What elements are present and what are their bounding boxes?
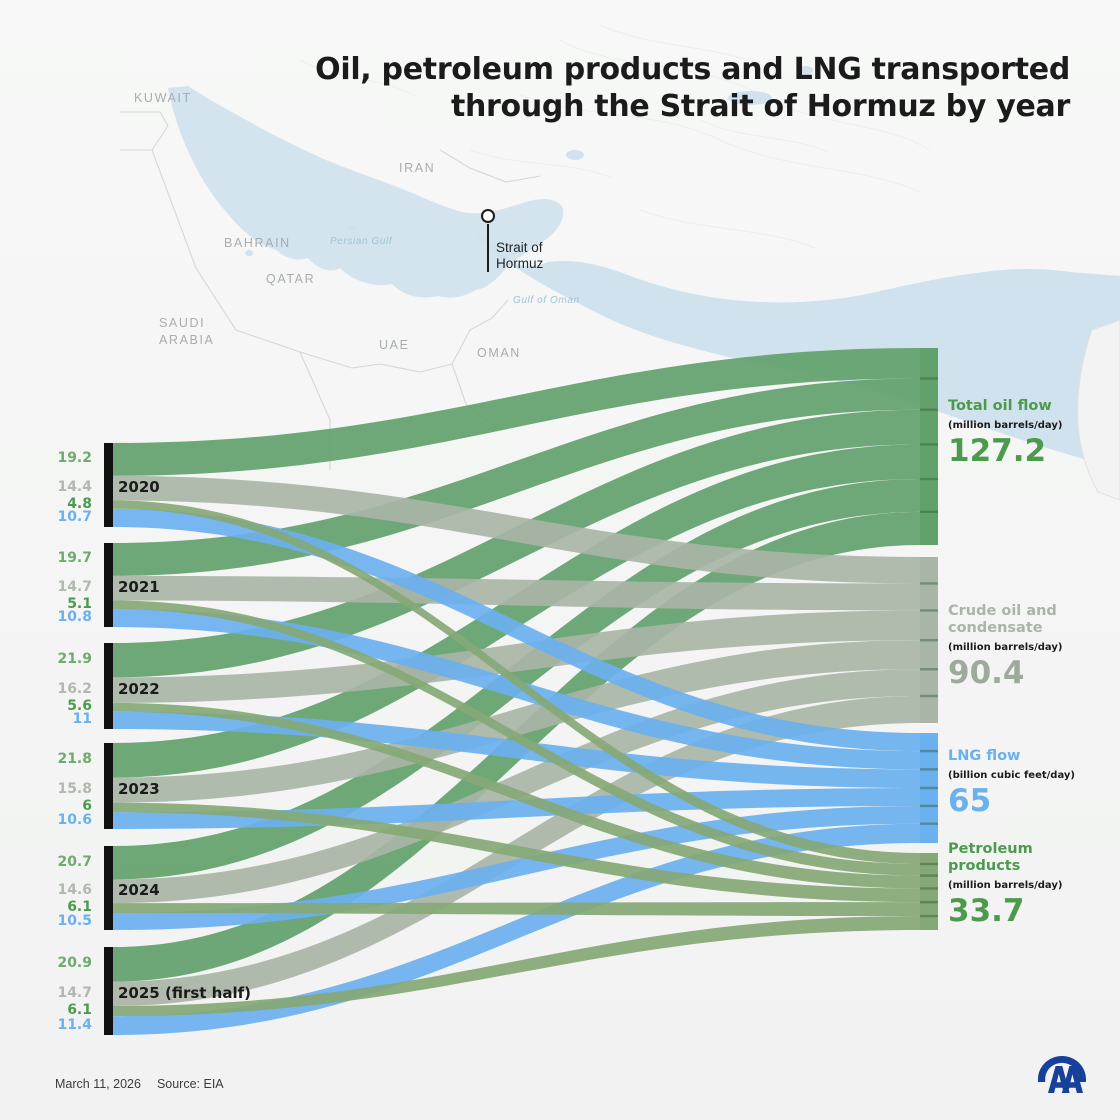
- year-value-2025-first-half--total-oil: 20.9: [0, 955, 92, 971]
- category-lng-flow: LNG flow (billion cubic feet/day) 65: [948, 748, 1108, 817]
- category-name-lng-flow: LNG flow: [948, 748, 1108, 765]
- year-label-2022: 2022: [118, 680, 160, 698]
- year-value-2020-lng: 10.7: [0, 509, 92, 525]
- year-value-2023-total-oil: 21.8: [0, 751, 92, 767]
- year-value-2023-lng: 10.6: [0, 812, 92, 828]
- year-value-2025-first-half--lng: 11.4: [0, 1017, 92, 1033]
- year-value-2022-total-oil: 21.9: [0, 651, 92, 667]
- category-total-oil-flow: Total oil flow (million barrels/day) 127…: [948, 398, 1108, 467]
- category-unit-crude-oil-and-condensate: (million barrels/day): [948, 642, 1108, 653]
- footer-source: Source: EIA: [157, 1077, 224, 1091]
- category-value-total-oil-flow: 127.2: [948, 436, 1108, 467]
- year-value-2021-crude: 14.7: [0, 579, 92, 595]
- year-label-2025-first-half-: 2025 (first half): [118, 984, 251, 1002]
- year-value-2022-lng: 11: [0, 711, 92, 727]
- category-value-petroleum-products: 33.7: [948, 896, 1108, 927]
- anadolu-agency-logo: [1033, 1053, 1091, 1099]
- footer-date: March 11, 2026: [55, 1077, 141, 1091]
- category-unit-lng-flow: (billion cubic feet/day): [948, 770, 1108, 781]
- year-label-2024: 2024: [118, 881, 160, 899]
- year-value-2021-total-oil: 19.7: [0, 550, 92, 566]
- year-value-2022-crude: 16.2: [0, 681, 92, 697]
- year-value-2020-total-oil: 19.2: [0, 450, 92, 466]
- category-unit-total-oil-flow: (million barrels/day): [948, 420, 1108, 431]
- year-value-2020-crude: 14.4: [0, 479, 92, 495]
- category-value-crude-oil-and-condensate: 90.4: [948, 658, 1108, 689]
- category-name-crude-oil-and-condensate: Crude oil and condensate: [948, 603, 1108, 637]
- year-label-2021: 2021: [118, 578, 160, 596]
- year-label-layer: 19.214.44.810.7202019.714.75.110.8202121…: [0, 0, 1120, 1120]
- year-label-2023: 2023: [118, 780, 160, 798]
- year-value-2024-crude: 14.6: [0, 882, 92, 898]
- category-crude-oil-and-condensate: Crude oil and condensate (million barrel…: [948, 603, 1108, 689]
- year-value-2024-lng: 10.5: [0, 913, 92, 929]
- category-unit-petroleum-products: (million barrels/day): [948, 880, 1108, 891]
- year-label-2020: 2020: [118, 478, 160, 496]
- footer: March 11, 2026Source: EIA: [55, 1077, 224, 1091]
- year-value-2021-lng: 10.8: [0, 609, 92, 625]
- category-petroleum-products: Petroleum products (million barrels/day)…: [948, 841, 1108, 927]
- infographic-canvas: KUWAIT IRAN BAHRAIN QATAR SAUDI ARABIA U…: [0, 0, 1120, 1120]
- category-name-total-oil-flow: Total oil flow: [948, 398, 1108, 415]
- category-value-lng-flow: 65: [948, 786, 1108, 817]
- year-value-2024-total-oil: 20.7: [0, 854, 92, 870]
- year-value-2023-crude: 15.8: [0, 781, 92, 797]
- year-value-2025-first-half--crude: 14.7: [0, 985, 92, 1001]
- category-name-petroleum-products: Petroleum products: [948, 841, 1108, 875]
